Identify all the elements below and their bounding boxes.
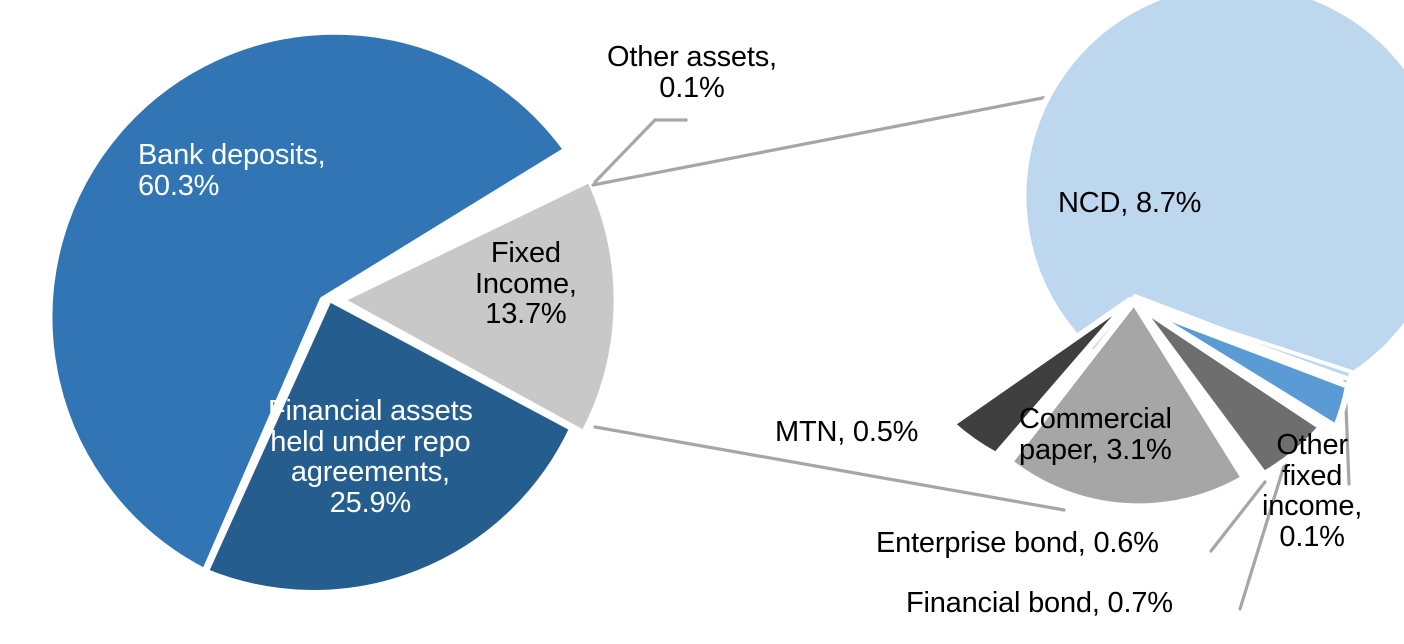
main-slice-label-bank-deposits: Bank deposits, 60.3%: [138, 140, 325, 201]
breakout-slice-label-enterprise-bond: Enterprise bond, 0.6%: [876, 528, 1159, 559]
breakout-slice-label-commercial-paper: Commercial paper, 3.1%: [1019, 404, 1172, 465]
main-slice-label-financial-repo: Financial assets held under repo agreeme…: [268, 396, 473, 519]
pie-chart-figure: Bank deposits, 60.3% Financial assets he…: [0, 0, 1404, 644]
breakout-slice-label-mtn: MTN, 0.5%: [775, 417, 918, 448]
leader-line-breakout-top: [593, 93, 1068, 185]
breakout-slice-label-other-fixed-income: Other fixed income, 0.1%: [1262, 430, 1362, 553]
breakout-slice-label-financial-bond: Financial bond, 0.7%: [906, 588, 1173, 619]
breakout-slice-label-ncd: NCD, 8.7%: [1058, 188, 1201, 219]
main-slice-label-fixed-income: Fixed Income, 13.7%: [475, 238, 577, 330]
leader-line-other-assets: [595, 120, 686, 182]
main-slice-label-other-assets: Other assets, 0.1%: [607, 42, 777, 103]
